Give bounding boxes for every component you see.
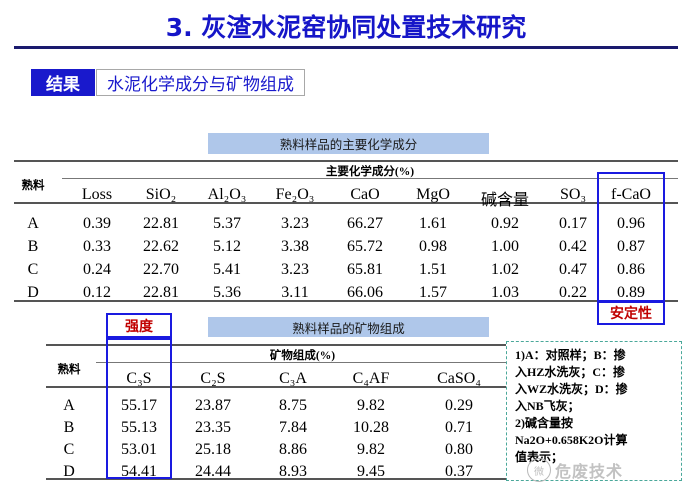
table1-cell: 22.81: [130, 215, 192, 233]
table1-row-label: C: [6, 261, 60, 279]
table1-cell: 0.33: [66, 238, 128, 256]
table1-cell: 3.23: [264, 215, 326, 233]
table1-cell: 0.92: [468, 215, 542, 233]
table2-col-header-c4af: C₄AF: [340, 370, 402, 388]
slide-root: 3. 灰渣水泥窑协同处置技术研究 结果 水泥化学成分与矿物组成 熟料样品的主要化…: [0, 0, 692, 491]
note-line-7: 值表示；: [515, 449, 675, 466]
table2-cell: 10.28: [340, 419, 402, 437]
table2-cell: 0.29: [424, 397, 494, 415]
table1-cell: 0.86: [600, 261, 662, 279]
stability-label: 安定性: [597, 301, 665, 325]
table1-group-header: 主要化学成分(%): [62, 163, 678, 179]
table1-cell: 0.96: [600, 215, 662, 233]
table1-cell: 22.62: [130, 238, 192, 256]
table1-cell: 66.06: [334, 284, 396, 302]
table2-banner: 熟料样品的矿物组成: [208, 317, 489, 337]
note-line-3: 入WZ水洗灰；D：掺: [515, 381, 675, 398]
strength-label: 强度: [106, 313, 172, 338]
table1-cell: 65.81: [334, 261, 396, 279]
table1-row-label: D: [6, 284, 60, 302]
table2-cell: 24.44: [182, 463, 244, 481]
table2-cell: 0.80: [424, 441, 494, 459]
table1-cell: 22.70: [130, 261, 192, 279]
table1-cell: 3.11: [264, 284, 326, 302]
table1-cell: 0.98: [402, 238, 464, 256]
table2-cell: 8.93: [262, 463, 324, 481]
table1-cell: 1.57: [402, 284, 464, 302]
table1-cell: 0.42: [546, 238, 600, 256]
table2-cell: 23.87: [182, 397, 244, 415]
table1-cell: 1.02: [468, 261, 542, 279]
table1-cell: 5.37: [196, 215, 258, 233]
table1-cell: 3.23: [264, 261, 326, 279]
table1-cell: 1.51: [402, 261, 464, 279]
table2-cell: 53.01: [108, 441, 170, 459]
table1-cell: 65.72: [334, 238, 396, 256]
table2-col-header-c2s: C₂S: [182, 370, 244, 388]
result-tag: 结果: [31, 69, 95, 96]
table1-cell: 5.12: [196, 238, 258, 256]
table2-row-label: B: [42, 419, 96, 437]
table1-cell: 0.22: [546, 284, 600, 302]
table2-col-header-c3a: C₃A: [262, 370, 324, 388]
table1-banner: 熟料样品的主要化学成分: [208, 133, 489, 154]
table2-cell: 8.86: [262, 441, 324, 459]
table1-cell: 1.00: [468, 238, 542, 256]
table1-col-header-alkali: 碱含量: [468, 186, 542, 210]
table1-highlight-fcao: [597, 172, 665, 302]
table1-cell: 0.39: [66, 215, 128, 233]
table2-cell: 25.18: [182, 441, 244, 459]
note-line-1: 1)A：对照样；B：掺: [515, 347, 675, 364]
table2-row-label: C: [42, 441, 96, 459]
table2-cell: 0.37: [424, 463, 494, 481]
table1-col-header-loss: Loss: [66, 186, 128, 204]
table1-col-header-sio2: SiO₂: [130, 186, 192, 204]
table2-rowlabel-header: 熟料: [42, 361, 96, 377]
table1-cell: 22.81: [130, 284, 192, 302]
note-line-6: Na2O+0.658K2O计算: [515, 432, 675, 449]
table1-cell: 0.17: [546, 215, 600, 233]
table1-cell: 0.12: [66, 284, 128, 302]
table2-cell: 23.35: [182, 419, 244, 437]
table2-cell: 9.82: [340, 397, 402, 415]
table2-col-header-caso4: CaSO₄: [424, 370, 494, 388]
table2-group-header: 矿物组成(%): [96, 347, 509, 363]
table1-cell: 0.89: [600, 284, 662, 302]
note-line-2: 入HZ水洗灰；C：掺: [515, 364, 675, 381]
table1-row-label: A: [6, 215, 60, 233]
note-box: 1)A：对照样；B：掺 入HZ水洗灰；C：掺 入WZ水洗灰；D：掺 入NB飞灰；…: [506, 341, 682, 481]
table2-cell: 8.75: [262, 397, 324, 415]
table2-col-header-c3s: C₃S: [108, 370, 170, 388]
table2-cell: 7.84: [262, 419, 324, 437]
table1-col-header-mgo: MgO: [402, 186, 464, 204]
table1-col-header-al2o3: Al₂O₃: [196, 186, 258, 204]
table1-cell: 5.41: [196, 261, 258, 279]
table1-row-label: B: [6, 238, 60, 256]
table2-row-label: A: [42, 397, 96, 415]
table1-cell: 0.24: [66, 261, 128, 279]
table1-cell: 66.27: [334, 215, 396, 233]
table1-col-header-fe2o3: Fe₂O₃: [264, 186, 326, 204]
table2-cell: 9.45: [340, 463, 402, 481]
table1-cell: 0.47: [546, 261, 600, 279]
page-title: 3. 灰渣水泥窑协同处置技术研究: [0, 8, 692, 44]
subtitle-box: 水泥化学成分与矿物组成: [96, 69, 305, 96]
table1-rule-top: [14, 160, 678, 162]
note-line-4: 入NB飞灰；: [515, 398, 675, 415]
table1-cell: 0.87: [600, 238, 662, 256]
table1-cell: 1.61: [402, 215, 464, 233]
table1-cell: 3.38: [264, 238, 326, 256]
table2-row-label: D: [42, 463, 96, 481]
table2-cell: 55.17: [108, 397, 170, 415]
note-line-5: 2)碱含量按: [515, 415, 675, 432]
table2-cell: 0.71: [424, 419, 494, 437]
table2-cell: 54.41: [108, 463, 170, 481]
table1-col-header-cao: CaO: [334, 186, 396, 204]
table1-cell: 1.03: [468, 284, 542, 302]
table1-cell: 5.36: [196, 284, 258, 302]
table2-cell: 55.13: [108, 419, 170, 437]
table1-col-header-so3: SO₃: [546, 186, 600, 204]
table2-cell: 9.82: [340, 441, 402, 459]
table1-rowlabel-header: 熟料: [6, 177, 60, 193]
title-divider: [14, 46, 678, 49]
